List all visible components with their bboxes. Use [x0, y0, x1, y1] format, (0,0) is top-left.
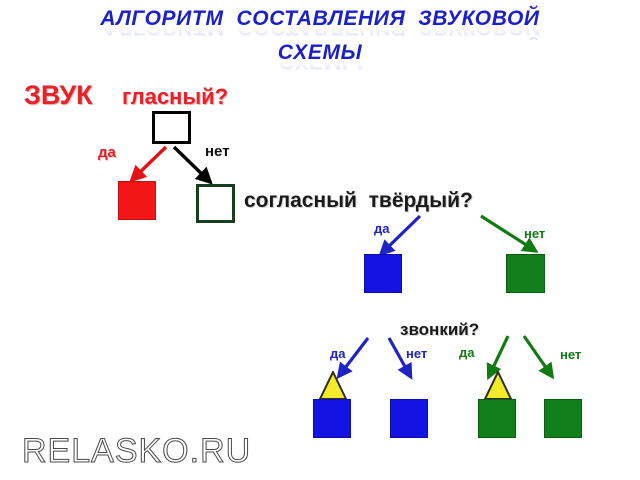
label-level1-yes: да	[98, 144, 116, 161]
result-hard-voiced-square[interactable]	[313, 399, 351, 438]
label-level3-soft-yes: да	[459, 345, 474, 360]
label-level2-no: нет	[524, 226, 545, 241]
arrow-level1-no	[174, 147, 206, 178]
question-voiced: звонкий?	[400, 320, 479, 340]
question-vowel: гласный?	[122, 84, 228, 110]
root-label-sound: ЗВУК	[24, 80, 93, 111]
result-hard-voiceless-square[interactable]	[390, 399, 428, 438]
label-level2-yes: да	[374, 221, 389, 236]
label-level1-no: нет	[205, 143, 230, 160]
label-level3-hard-no: нет	[406, 346, 427, 361]
diagram-canvas: АЛГОРИТМ СОСТАВЛЕНИЯ ЗВУКОВОЙ АЛГОРИТМ С…	[0, 0, 640, 480]
arrow-level3-soft-yes	[491, 336, 508, 372]
arrow-level3-hard-yes	[342, 338, 368, 372]
result-soft-green-square[interactable]	[506, 254, 545, 293]
result-hard-blue-square[interactable]	[364, 254, 402, 293]
result-soft-voiced-square[interactable]	[478, 399, 516, 438]
result-soft-voiceless-square[interactable]	[544, 399, 582, 438]
arrow-level1-yes	[136, 147, 166, 176]
title-line-1-reflection: АЛГОРИТМ СОСТАВЛЕНИЯ ЗВУКОВОЙ	[0, 26, 640, 40]
decision-box-vowel[interactable]	[152, 111, 191, 144]
watermark: RELASKO.RU	[22, 432, 251, 471]
result-vowel-red-square[interactable]	[118, 181, 156, 220]
label-level3-soft-no: нет	[560, 347, 581, 362]
arrow-level3-soft-no	[524, 336, 549, 372]
title-line-2-reflection: СХЕМЫ	[0, 60, 640, 74]
label-level3-hard-yes: да	[330, 346, 345, 361]
question-consonant-hard: согласный твёрдый?	[244, 189, 473, 213]
page-title: АЛГОРИТМ СОСТАВЛЕНИЯ ЗВУКОВОЙ АЛГОРИТМ С…	[0, 6, 640, 74]
arrow-level2-yes	[385, 216, 420, 250]
result-consonant-box[interactable]	[196, 184, 235, 223]
